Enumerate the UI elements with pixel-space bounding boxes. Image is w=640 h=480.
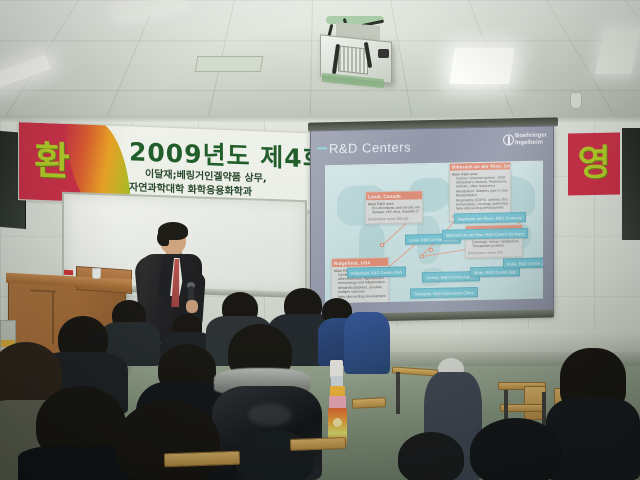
- seat-top: [290, 437, 346, 451]
- projection-screen: R&D Centers Boehringer Ingelheim: [310, 125, 554, 320]
- projector-lens-icon: [378, 49, 389, 58]
- welcome-banner-right: 영: [568, 133, 620, 196]
- callout-bullet: New clinical drug development: [456, 206, 508, 211]
- ceiling-speaker-icon: [570, 92, 582, 109]
- audience-coat-blue: [344, 312, 390, 374]
- banner-hwan-character: 환: [29, 136, 75, 188]
- coat-highlight: [248, 404, 292, 426]
- audience-head: [470, 418, 562, 480]
- map-tag: Ridgefield, R&D Centre USA: [347, 267, 406, 278]
- slide-accent-tick: [317, 147, 327, 149]
- boehringer-ingelheim-logo: Boehringer Ingelheim: [515, 133, 547, 148]
- slide-title: R&D Centers: [329, 139, 411, 156]
- audience-head: [236, 430, 314, 480]
- callout-bullets: Cancer / immune system - CNS Alzheimer's…: [450, 175, 510, 214]
- projector-vent: [338, 45, 368, 74]
- logo-mark-icon: [503, 134, 514, 145]
- callout-bullet: disease, HIV virus, hepatitis C viral: [372, 209, 420, 214]
- map-tag: Kobe, R&D Centre Japan: [503, 257, 543, 268]
- desk-top: [352, 397, 386, 409]
- wall-dark-panel-right: [622, 128, 640, 240]
- audience-head: [398, 432, 464, 480]
- callout-laval: Laval, Canada Main R&D area Pro-thrombot…: [365, 190, 423, 225]
- lecture-hall-photo: 환 2009년도 제4회 이달재;베링거인겔약품 상무, 자연과학대학 화학응용…: [0, 0, 640, 480]
- audience-coat: [546, 398, 640, 480]
- lectern-red-marker: [64, 270, 73, 275]
- callout-bullet: Therapeutic proteins: [472, 243, 520, 248]
- world-map: Laval, Canada Main R&D area Pro-thrombot…: [325, 161, 543, 304]
- map-tag: Ingelheim am Rhein, R&D Germany: [454, 212, 526, 224]
- paper-cup: [92, 268, 101, 279]
- audience-head: [116, 400, 220, 480]
- logo-line-2: Ingelheim: [515, 140, 547, 148]
- callout-ridgefield: Ridgefield, USA Main R&D area Cardiovasc…: [331, 257, 389, 303]
- presentation-slide: R&D Centers Boehringer Ingelheim: [311, 126, 553, 319]
- presenter-hand: [186, 300, 198, 313]
- desk-leg: [396, 372, 400, 414]
- callout-footer: Employees: some 600: [466, 249, 522, 257]
- ceiling-light-right: [449, 48, 515, 84]
- slide-page-number: 18: [437, 294, 441, 299]
- callout-footer: Employees: some 800 ppl.: [366, 216, 422, 224]
- map-tag: Shanghai, R&D Operations China: [410, 287, 478, 298]
- map-tag: Biberach an der Riss, R&D Centre Germany: [442, 228, 528, 240]
- lectern-seam: [52, 292, 54, 344]
- presenter-hair: [157, 230, 169, 246]
- air-conditioning-vent: [195, 56, 264, 72]
- banner-yeong-character: 영: [568, 133, 620, 196]
- slide-corner-mark: A 8: [532, 291, 539, 297]
- seat-top: [164, 451, 240, 468]
- callout-bullet: New clinical drug development: [338, 293, 386, 298]
